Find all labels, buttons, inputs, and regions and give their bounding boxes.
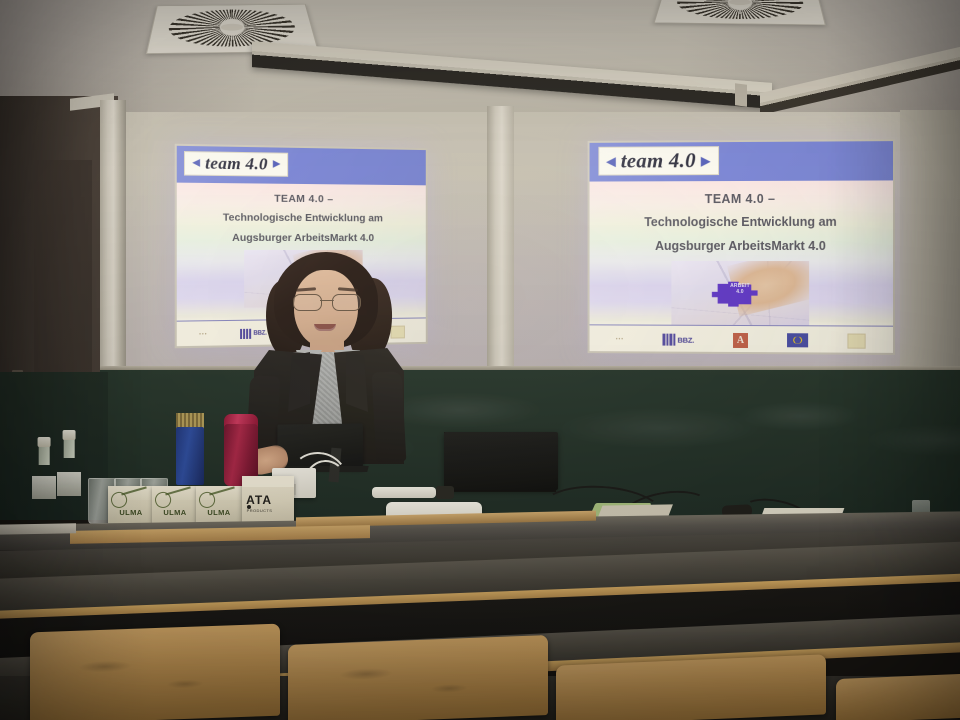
logo-left-arrow-icon: ◀ — [192, 158, 200, 168]
diffuser-hub — [729, 0, 751, 5]
chair-scuff — [288, 635, 548, 720]
white-cylinder-small-cap — [436, 486, 454, 499]
bottle-cap — [38, 437, 51, 447]
slide-title-line-1: TEAM 4.0 – — [588, 187, 895, 212]
eu-flag-logo — [787, 333, 808, 347]
eyeglasses-icon — [293, 294, 361, 309]
ulma-box-3[interactable]: ULMA — [196, 486, 242, 526]
slide-right: ◀ team 4.0 ▶ TEAM 4.0 – Technologische E… — [588, 139, 895, 355]
second-laptop[interactable] — [444, 432, 558, 490]
white-cylinder-small — [372, 487, 436, 498]
slide-header: ◀ team 4.0 ▶ — [588, 139, 895, 181]
blue-thermos[interactable] — [176, 427, 204, 485]
box-top — [242, 476, 294, 487]
slide-header: ◀ team 4.0 ▶ — [175, 144, 428, 186]
logo-text: team 4.0 — [621, 148, 696, 173]
lens-left — [293, 294, 322, 311]
slide-body: TEAM 4.0 – Technologische Entwicklung am… — [588, 180, 895, 326]
ministry-logo — [848, 333, 866, 348]
water-bottle-2[interactable] — [55, 430, 83, 525]
right-wall — [900, 110, 960, 410]
arm-right — [372, 371, 407, 462]
ceiling-rail-bracket — [735, 83, 747, 106]
slide-title-line-3: Augsburger ArbeitsMarkt 4.0 — [588, 235, 895, 259]
ulma-label: ULMA — [152, 508, 198, 517]
slide-title: TEAM 4.0 – Technologische Entwicklung am… — [588, 187, 895, 259]
bottle-label — [57, 472, 81, 497]
slide-image-puzzle: ARBEIT 4.0 — [671, 261, 809, 325]
logo-left-arrow-icon: ◀ — [606, 154, 616, 167]
slide-title-line-3: Augsburger ArbeitsMarkt 4.0 — [175, 228, 428, 248]
bbz-logo: BBZ. — [663, 334, 694, 346]
ceiling-air-diffuser-right-icon — [653, 0, 825, 25]
partner-logo-dots: ••• — [616, 336, 624, 342]
bottle-cap — [63, 430, 76, 440]
lens-right — [332, 294, 361, 311]
chair-back-4[interactable] — [836, 673, 960, 720]
slide-title-line-2: Technologische Entwicklung am — [588, 211, 895, 235]
team-logo: ◀ team 4.0 ▶ — [184, 151, 288, 177]
chair-back-3[interactable] — [556, 654, 826, 720]
slide-title-line-1: TEAM 4.0 – — [175, 189, 428, 210]
ulma-box-2[interactable]: ULMA — [152, 486, 198, 526]
ulma-box-1[interactable]: ULMA — [108, 486, 154, 526]
eu-flag-icon — [787, 333, 808, 347]
lecture-hall-photo: ◀ team 4.0 ▶ TEAM 4.0 – Technologische E… — [0, 0, 960, 720]
diffuser-hub — [221, 24, 243, 31]
mouth — [314, 324, 336, 331]
ata-label: ATA — [246, 494, 272, 506]
chair-back-2[interactable] — [288, 635, 548, 720]
slide-title: TEAM 4.0 – Technologische Entwicklung am… — [175, 189, 428, 249]
logo-right-arrow-icon: ▶ — [273, 160, 281, 170]
chair-back-1[interactable] — [30, 624, 280, 720]
chair-scuff — [30, 624, 280, 720]
bbz-bars-icon — [663, 334, 676, 346]
puzzle-piece-label: ARBEIT 4.0 — [671, 282, 809, 296]
logo-right-arrow-icon: ▶ — [701, 154, 711, 167]
team-logo: ◀ team 4.0 ▶ — [598, 146, 719, 175]
water-bottle-1[interactable] — [30, 437, 58, 525]
ulma-label: ULMA — [108, 508, 154, 517]
center-pillar — [487, 106, 514, 374]
bottle-label — [32, 476, 56, 499]
ata-sublabel: PRODUCTS — [247, 508, 273, 513]
ministry-logo-icon — [848, 333, 866, 348]
a-logo: A — [733, 333, 748, 348]
bottle-neck — [64, 438, 75, 458]
bottle-neck — [39, 445, 50, 465]
slide-footer-logos: ••• BBZ. A — [588, 325, 895, 355]
partner-logo-dots: ••• — [199, 331, 207, 337]
lectern-side-edge — [0, 523, 76, 535]
logo-text: team 4.0 — [205, 153, 268, 174]
ulma-label: ULMA — [196, 508, 242, 517]
projection-screen-right: ◀ team 4.0 ▶ TEAM 4.0 – Technologische E… — [588, 139, 895, 355]
slide-title-line-2: Technologische Entwicklung am — [175, 209, 428, 230]
